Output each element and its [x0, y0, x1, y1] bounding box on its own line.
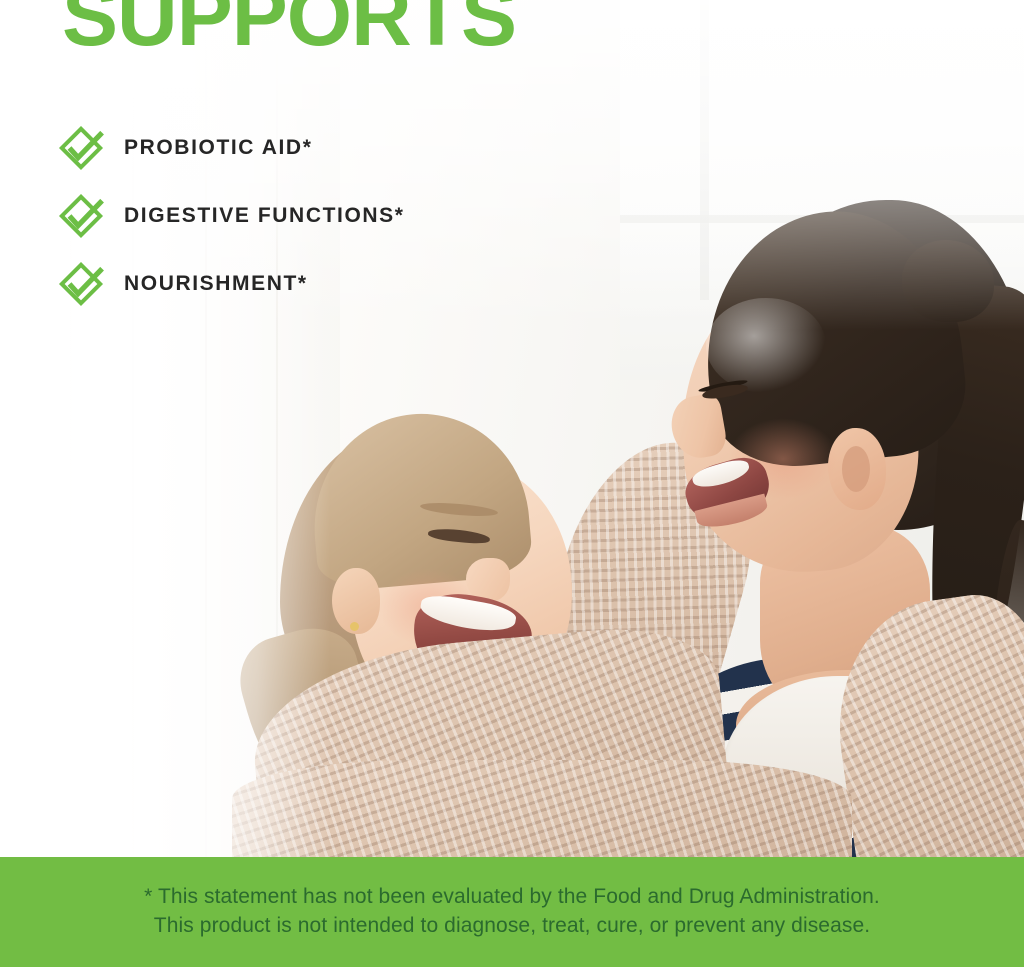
benefit-item-digestive-functions: DIGESTIVE FUNCTIONS*	[58, 182, 678, 250]
check-diamond-icon	[58, 261, 104, 307]
disclaimer-line-2: This product is not intended to diagnose…	[154, 912, 870, 941]
benefit-item-nourishment: NOURISHMENT*	[58, 250, 678, 318]
mother-ear-inner	[842, 446, 870, 492]
benefits-list: PROBIOTIC AID* DIGESTIVE FUNCTIONS* NOUR…	[58, 114, 678, 318]
mother-ponytail-knot	[902, 240, 994, 322]
benefit-item-probiotic-aid: PROBIOTIC AID*	[58, 114, 678, 182]
daughter-earring	[350, 622, 359, 631]
disclaimer-line-1: * This statement has not been evaluated …	[144, 883, 880, 912]
fda-disclaimer-bar: * This statement has not been evaluated …	[0, 857, 1024, 967]
check-diamond-icon	[58, 125, 104, 171]
check-diamond-icon	[58, 193, 104, 239]
benefit-label: NOURISHMENT*	[124, 272, 308, 296]
mother-highlight	[706, 298, 826, 393]
benefit-label: PROBIOTIC AID*	[124, 136, 312, 160]
product-benefits-panel: SUPPORTS PROBIOTIC AID* DIGESTIVE FUNCTI…	[0, 0, 1024, 967]
benefit-label: DIGESTIVE FUNCTIONS*	[124, 204, 405, 228]
page-title: SUPPORTS	[62, 0, 516, 58]
